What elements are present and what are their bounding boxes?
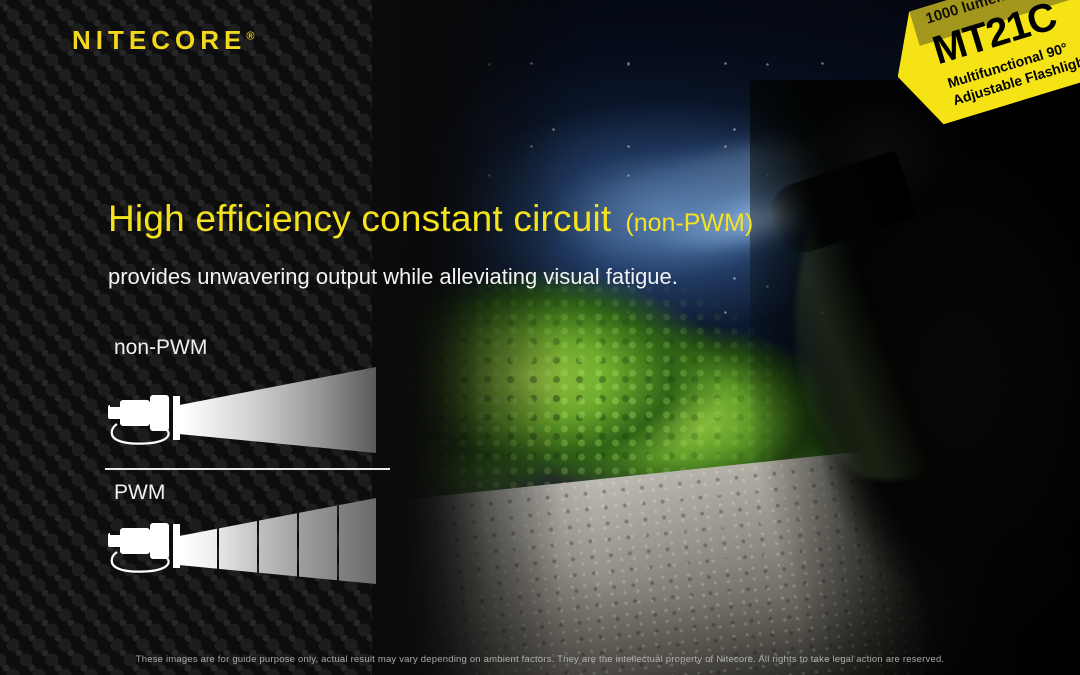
promo-banner: NITECORE® 1000 lumens MT21C Multifunctio… [0,0,1080,675]
beam-segment [259,498,297,584]
beam-segment [339,498,376,584]
diagram-label-pwm: PWM [114,481,165,505]
diagram-divider [105,468,390,470]
beam-segmented [180,498,376,584]
beam-segmented-clip [180,498,376,584]
beam-continuous-fill [180,367,376,453]
nitecore-logo: NITECORE® [72,27,254,53]
headline-subtitle: provides unwavering output while allevia… [108,264,678,290]
beam-continuous [180,367,376,453]
photo-left-fade [372,0,562,675]
beam-segment [219,498,257,584]
registered-trademark-icon: ® [246,30,254,42]
headline-parenthetical-text: (non-PWM) [625,209,753,237]
logo-wordmark: NITECORE [72,25,246,55]
beam-segment [180,498,217,584]
headline: High efficiency constant circuit(non-PWM… [108,198,753,240]
headline-main-text: High efficiency constant circuit [108,198,611,239]
beam-segment [299,498,337,584]
footer-disclaimer: These images are for guide purpose only,… [0,654,1080,665]
diagram-label-non-pwm: non-PWM [114,336,207,360]
